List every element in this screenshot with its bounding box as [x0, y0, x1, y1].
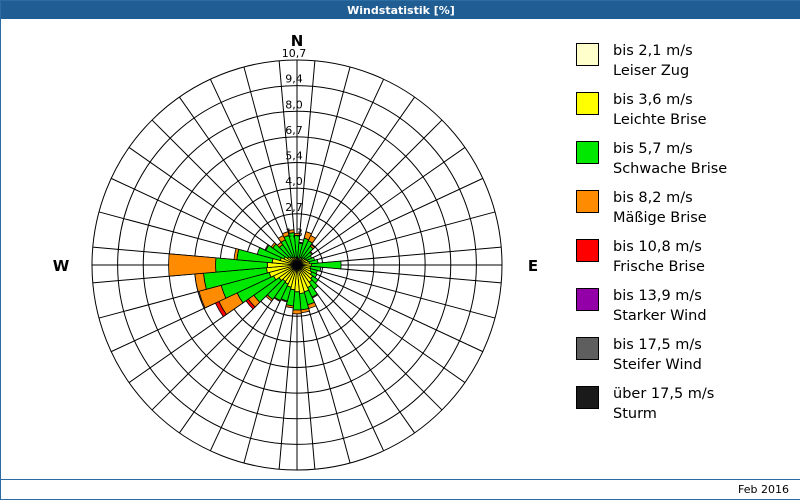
- legend-name-3: Mäßige Brise: [613, 208, 707, 228]
- legend-name-2: Schwache Brise: [613, 159, 727, 179]
- legend-item: über 17,5 m/s Sturm: [576, 384, 791, 426]
- window-title: Windstatistik [%]: [347, 4, 455, 17]
- windrose-petal-segment: [293, 310, 302, 314]
- radial-tick-label: 6,7: [285, 124, 303, 137]
- radial-tick-label: 9,4: [285, 73, 303, 86]
- footer-date: Feb 2016: [738, 483, 789, 496]
- footer-bar: Feb 2016: [1, 479, 800, 499]
- legend-item: bis 2,1 m/s Leiser Zug: [576, 41, 791, 83]
- window-root: Windstatistik [%] 1,32,74,05,46,78,09,41…: [0, 0, 800, 500]
- legend-item: bis 3,6 m/s Leichte Brise: [576, 90, 791, 132]
- grid-spoke: [297, 265, 465, 383]
- legend-name-1: Leichte Brise: [613, 110, 707, 130]
- radial-tick-label: 8,0: [285, 98, 303, 111]
- legend: bis 2,1 m/s Leiser Zug bis 3,6 m/s Leich…: [576, 41, 791, 433]
- legend-speed-2: bis 5,7 m/s: [613, 139, 727, 159]
- windrose-petals: [169, 230, 341, 317]
- radial-tick-label: 1,3: [285, 226, 303, 239]
- legend-swatch-6: [576, 337, 599, 360]
- legend-swatch-1: [576, 92, 599, 115]
- legend-item: bis 10,8 m/s Frische Brise: [576, 237, 791, 279]
- legend-item: bis 17,5 m/s Steifer Wind: [576, 335, 791, 377]
- grid-spoke: [297, 265, 495, 318]
- windrose-petal-segment: [169, 254, 216, 276]
- legend-name-4: Frische Brise: [613, 257, 705, 277]
- legend-name-5: Starker Wind: [613, 306, 707, 326]
- legend-swatch-3: [576, 190, 599, 213]
- windrose-petal-segment: [299, 242, 303, 244]
- compass-label-e: E: [528, 257, 538, 275]
- legend-speed-4: bis 10,8 m/s: [613, 237, 705, 257]
- legend-name-0: Leiser Zug: [613, 61, 693, 81]
- windrose-plot: 1,32,74,05,46,78,09,410,7NESW: [1, 19, 561, 482]
- legend-speed-6: bis 17,5 m/s: [613, 335, 702, 355]
- compass-label-w: W: [53, 257, 70, 275]
- grid-spoke: [297, 265, 442, 410]
- windrose-svg: 1,32,74,05,46,78,09,410,7NESW: [1, 19, 561, 482]
- legend-speed-7: über 17,5 m/s: [613, 384, 714, 404]
- radial-tick-label: 5,4: [285, 150, 303, 163]
- legend-swatch-4: [576, 239, 599, 262]
- legend-swatch-7: [576, 386, 599, 409]
- legend-item: bis 8,2 m/s Mäßige Brise: [576, 188, 791, 230]
- legend-swatch-2: [576, 141, 599, 164]
- legend-name-7: Sturm: [613, 404, 714, 424]
- grid-spoke: [297, 147, 465, 265]
- legend-swatch-5: [576, 288, 599, 311]
- chart-content: 1,32,74,05,46,78,09,410,7NESW bis 2,1 m/…: [1, 19, 800, 482]
- radial-tick-label: 2,7: [285, 201, 303, 214]
- legend-item: bis 13,9 m/s Starker Wind: [576, 286, 791, 328]
- legend-name-6: Steifer Wind: [613, 355, 702, 375]
- window-titlebar: Windstatistik [%]: [1, 1, 800, 19]
- legend-speed-1: bis 3,6 m/s: [613, 90, 707, 110]
- legend-speed-3: bis 8,2 m/s: [613, 188, 707, 208]
- grid-spoke: [297, 212, 495, 265]
- radial-tick-label: 4,0: [285, 175, 303, 188]
- legend-speed-0: bis 2,1 m/s: [613, 41, 693, 61]
- legend-swatch-0: [576, 43, 599, 66]
- grid-spoke: [297, 120, 442, 265]
- legend-item: bis 5,7 m/s Schwache Brise: [576, 139, 791, 181]
- compass-label-n: N: [291, 32, 304, 50]
- legend-speed-5: bis 13,9 m/s: [613, 286, 707, 306]
